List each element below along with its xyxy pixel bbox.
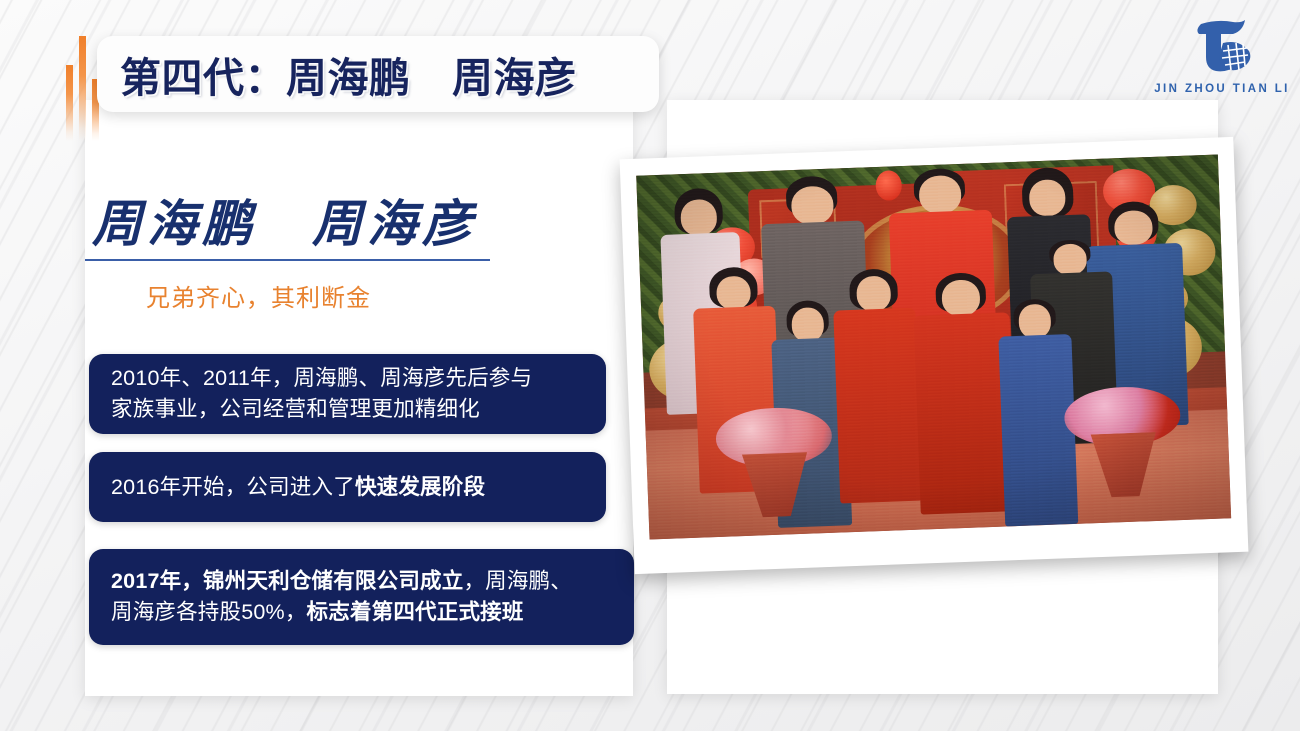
info-box-2010: 2010年、2011年，周海鹏、周海彦先后参与家族事业，公司经营和管理更加精细化 [89, 354, 606, 434]
accent-bar-1 [66, 65, 73, 141]
info-box-2016: 2016年开始，公司进入了快速发展阶段 [89, 452, 606, 522]
info-box-line: 家族事业，公司经营和管理更加精细化 [111, 394, 586, 425]
photo-frame [620, 137, 1249, 574]
photo-vignette [636, 154, 1231, 539]
info-box-line: 2016年开始，公司进入了快速发展阶段 [111, 472, 586, 503]
info-box-line: 2010年、2011年，周海鹏、周海彦先后参与 [111, 363, 586, 394]
info-box-line: 周海彦各持股50%，标志着第四代正式接班 [111, 597, 614, 628]
names-heading: 周海鹏 周海彦 [92, 184, 477, 256]
info-box-line: 2017年，锦州天利仓储有限公司成立，周海鹏、 [111, 566, 614, 597]
accent-bar-2 [79, 36, 86, 141]
slide-title-pill: 第四代：周海鹏 周海彦 [97, 36, 659, 112]
brand-logo: JIN ZHOU TIAN LI [1162, 17, 1282, 95]
logo-wordmark: JIN ZHOU TIAN LI [1154, 83, 1290, 95]
motto-text: 兄弟齐心，其利断金 [146, 278, 371, 313]
heading-divider [85, 259, 490, 261]
info-box-2017: 2017年，锦州天利仓储有限公司成立，周海鹏、周海彦各持股50%，标志着第四代正… [89, 549, 634, 645]
page-title: 第四代：周海鹏 周海彦 [120, 44, 577, 104]
tianli-t-logo-icon [1187, 17, 1257, 79]
slide-background: 第四代：周海鹏 周海彦 JIN ZHOU TIAN LI 周海鹏 周海彦 兄弟齐… [0, 0, 1300, 731]
family-group-photo [636, 154, 1231, 539]
